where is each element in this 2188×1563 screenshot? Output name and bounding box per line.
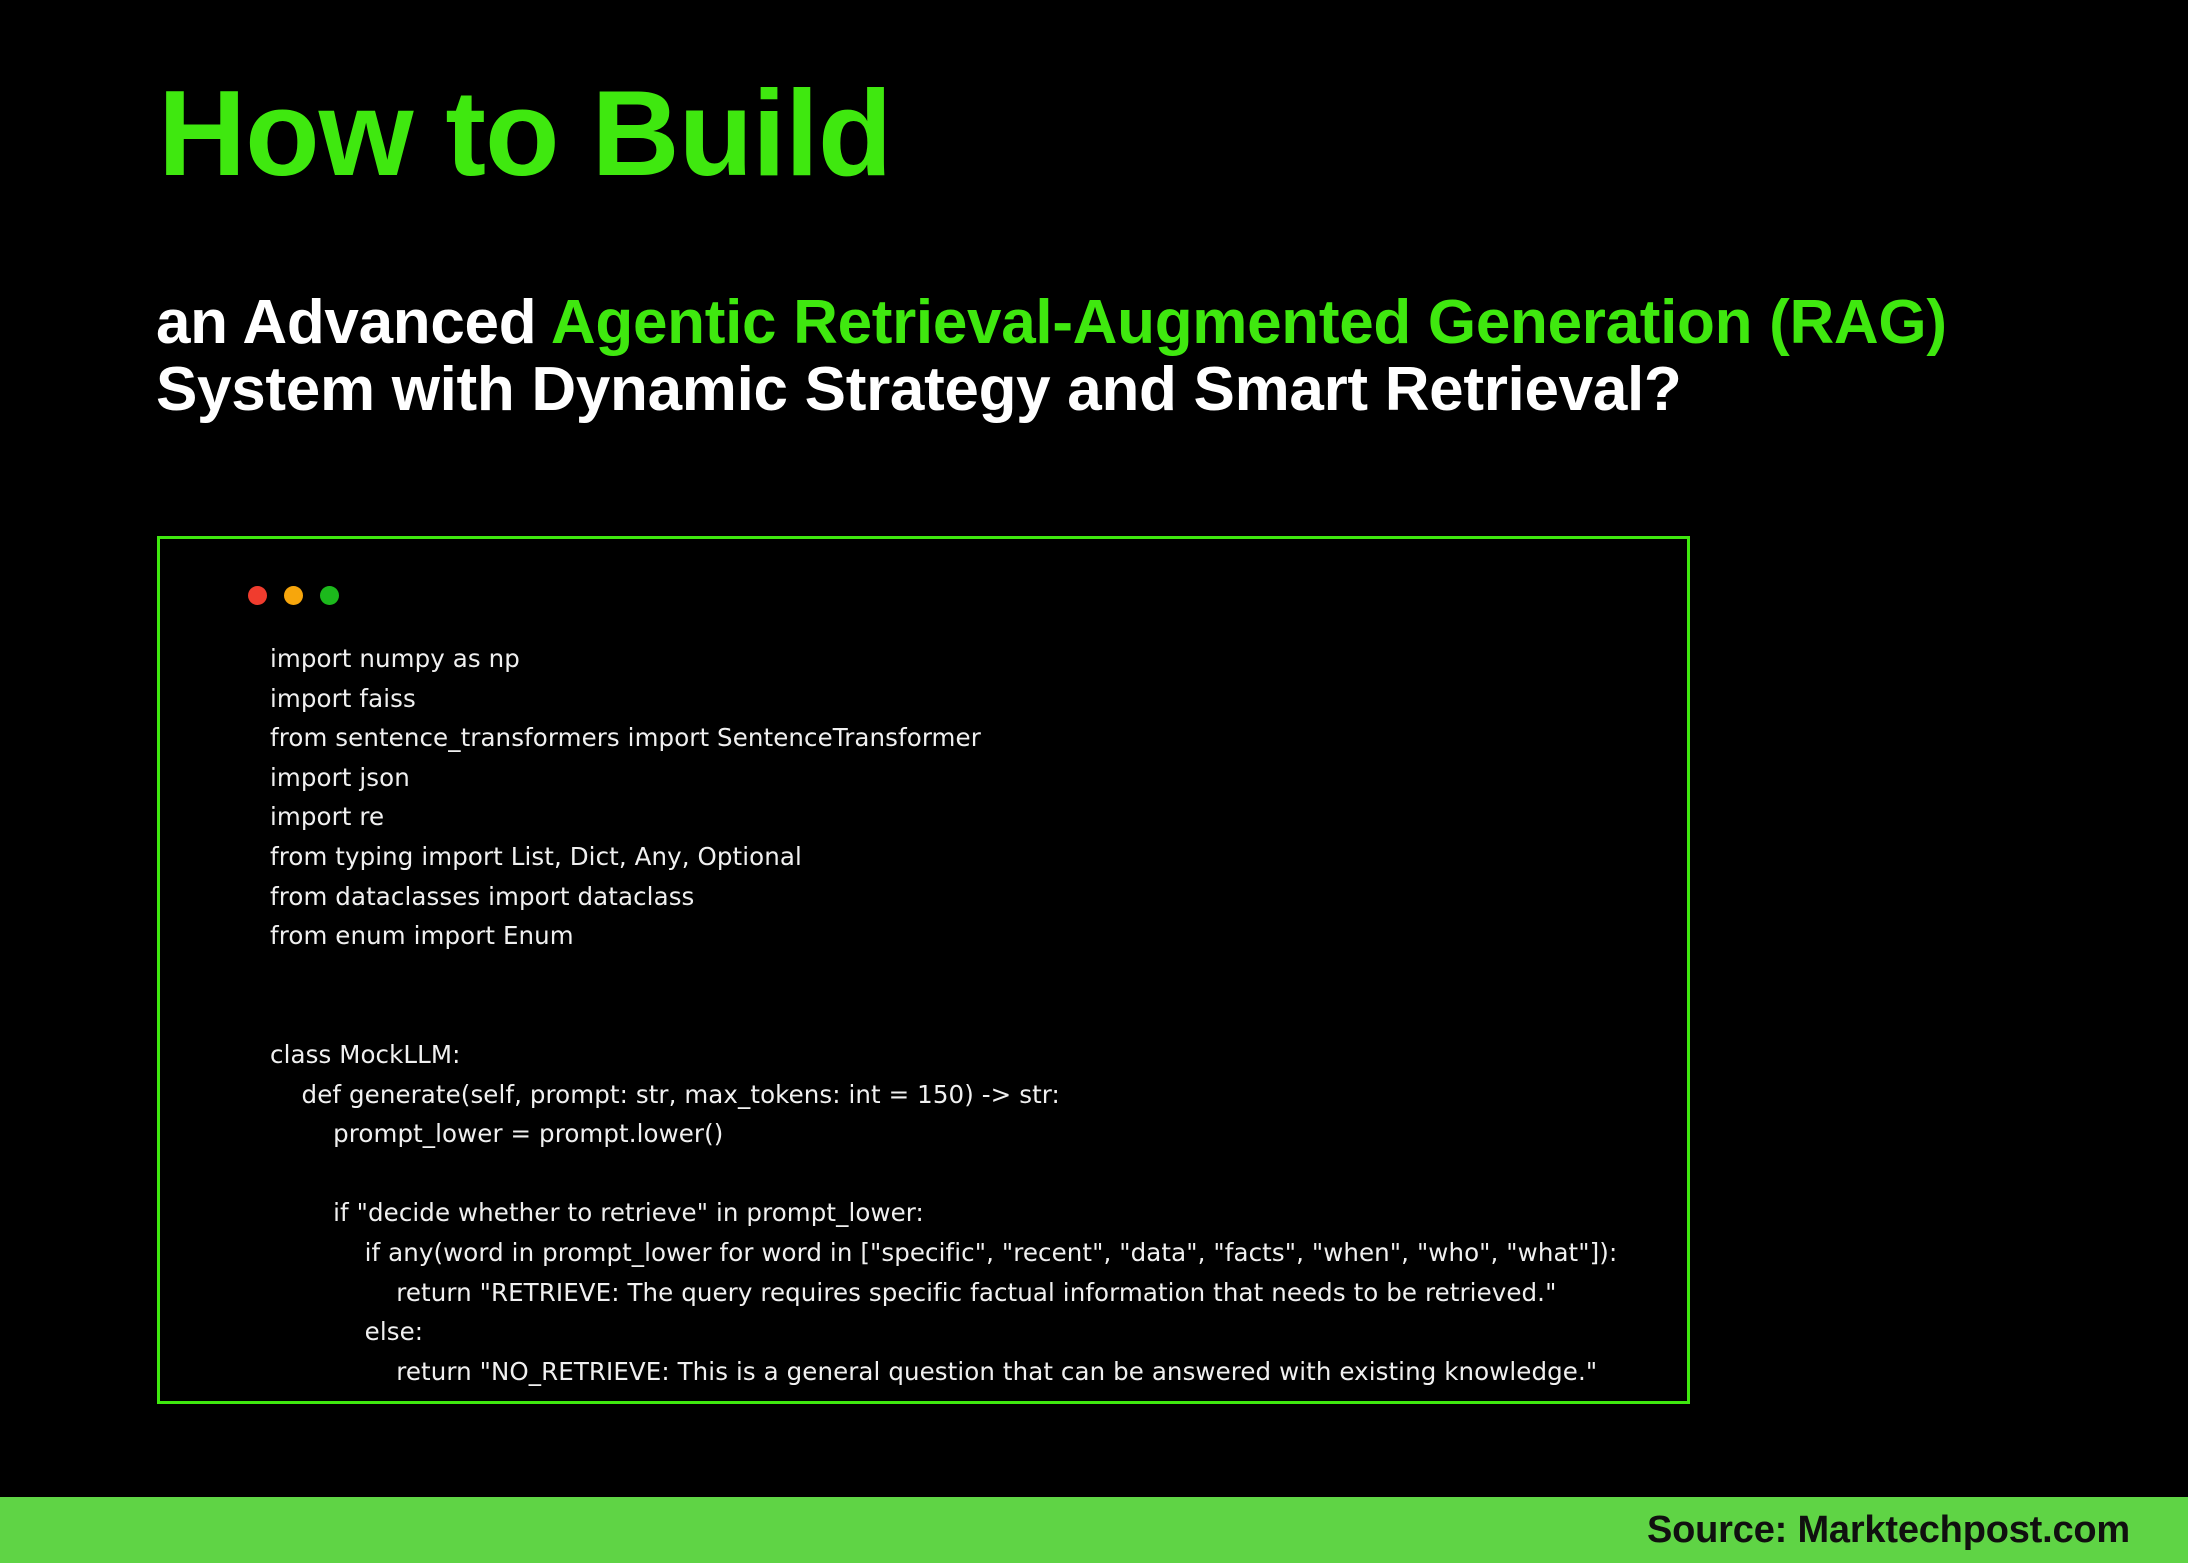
subtitle-accent-text: Agentic Retrieval-Augmented Generation (… — [551, 288, 1947, 357]
code-line: return "NO_RETRIEVE: This is a general q… — [270, 1352, 1667, 1392]
code-line: import faiss — [270, 679, 1667, 719]
code-line: from dataclasses import dataclass — [270, 877, 1667, 917]
source-attribution: Source: Marktechpost.com — [1647, 1509, 2188, 1552]
code-line: if any(word in prompt_lower for word in … — [270, 1233, 1667, 1273]
code-line: import json — [270, 758, 1667, 798]
maximize-dot[interactable] — [320, 586, 339, 605]
code-panel: import numpy as npimport faissfrom sente… — [157, 536, 1690, 1404]
subtitle-plain-text: an Advanced — [156, 288, 551, 357]
code-line: return "RETRIEVE: The query requires spe… — [270, 1273, 1667, 1313]
code-line: import numpy as np — [270, 639, 1667, 679]
code-line: class MockLLM: — [270, 1035, 1667, 1075]
code-line — [270, 1154, 1667, 1194]
page-title: How to Build — [158, 72, 2058, 194]
code-line: if "decide whether to retrieve" in promp… — [270, 1193, 1667, 1233]
code-line: from sentence_transformers import Senten… — [270, 718, 1667, 758]
code-line: import re — [270, 797, 1667, 837]
code-line: from typing import List, Dict, Any, Opti… — [270, 837, 1667, 877]
close-dot[interactable] — [248, 586, 267, 605]
code-content: import numpy as npimport faissfrom sente… — [270, 639, 1667, 1391]
minimize-dot[interactable] — [284, 586, 303, 605]
code-line: def generate(self, prompt: str, max_toke… — [270, 1075, 1667, 1115]
subtitle-block: an Advanced Agentic Retrieval-Augmented … — [156, 290, 2116, 424]
code-line — [270, 956, 1667, 996]
code-line — [270, 995, 1667, 1035]
headline-block: How to Build — [158, 72, 2058, 194]
code-line: from enum import Enum — [270, 916, 1667, 956]
window-controls — [248, 586, 339, 605]
subtitle-line-1: an Advanced Agentic Retrieval-Augmented … — [156, 290, 2116, 357]
code-line: else: — [270, 1312, 1667, 1352]
subtitle-line-2: System with Dynamic Strategy and Smart R… — [156, 357, 2116, 424]
footer-bar: Source: Marktechpost.com — [0, 1497, 2188, 1563]
code-line: prompt_lower = prompt.lower() — [270, 1114, 1667, 1154]
